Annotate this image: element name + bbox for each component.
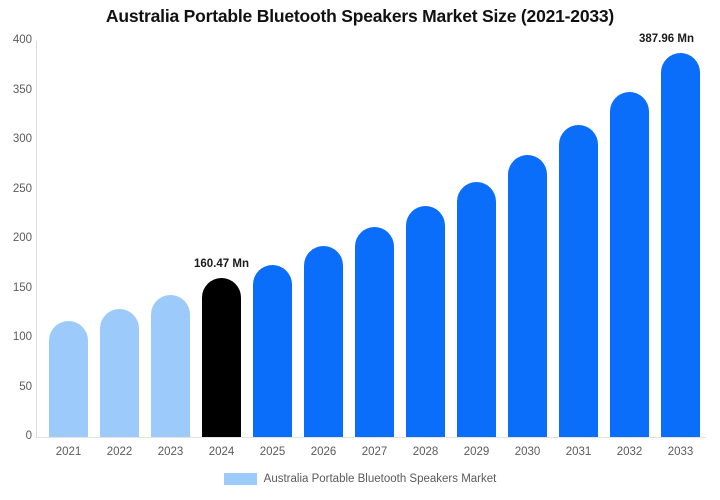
- bar-2032[interactable]: [610, 92, 650, 437]
- x-axis-tick-label-2021: 2021: [43, 446, 94, 458]
- x-axis-tick-label-2029: 2029: [451, 446, 502, 458]
- bar-value-label-2033: 387.96 Mn: [627, 33, 707, 45]
- bar-2023[interactable]: [151, 295, 191, 437]
- bar-2030[interactable]: [508, 155, 548, 437]
- x-axis-tick-label-2032: 2032: [604, 446, 655, 458]
- x-axis-tick-label-2027: 2027: [349, 446, 400, 458]
- x-axis-tick-label-2030: 2030: [502, 446, 553, 458]
- x-axis-tick-label-2023: 2023: [145, 446, 196, 458]
- x-axis-tick-label-2031: 2031: [553, 446, 604, 458]
- bars-layer: 202120222023160.47 Mn2024202520262027202…: [0, 0, 720, 500]
- x-axis-tick-label-2024: 2024: [196, 446, 247, 458]
- bar-2033[interactable]: [661, 53, 701, 437]
- x-axis-tick-label-2026: 2026: [298, 446, 349, 458]
- bar-2024[interactable]: [202, 278, 242, 437]
- bar-value-label-2024: 160.47 Mn: [182, 258, 262, 270]
- legend-label: Australia Portable Bluetooth Speakers Ma…: [264, 473, 497, 485]
- chart-legend: Australia Portable Bluetooth Speakers Ma…: [0, 473, 720, 485]
- legend-swatch: [224, 473, 257, 485]
- x-axis-tick-label-2028: 2028: [400, 446, 451, 458]
- bar-2031[interactable]: [559, 125, 599, 437]
- bar-2021[interactable]: [49, 321, 89, 437]
- bar-2028[interactable]: [406, 206, 446, 437]
- bar-2022[interactable]: [100, 309, 140, 437]
- bar-chart: Australia Portable Bluetooth Speakers Ma…: [0, 0, 720, 500]
- bar-2026[interactable]: [304, 246, 344, 437]
- x-axis-tick-label-2025: 2025: [247, 446, 298, 458]
- bar-2025[interactable]: [253, 265, 293, 437]
- bar-2029[interactable]: [457, 182, 497, 437]
- x-axis-tick-label-2022: 2022: [94, 446, 145, 458]
- bar-2027[interactable]: [355, 227, 395, 437]
- x-axis-tick-label-2033: 2033: [655, 446, 706, 458]
